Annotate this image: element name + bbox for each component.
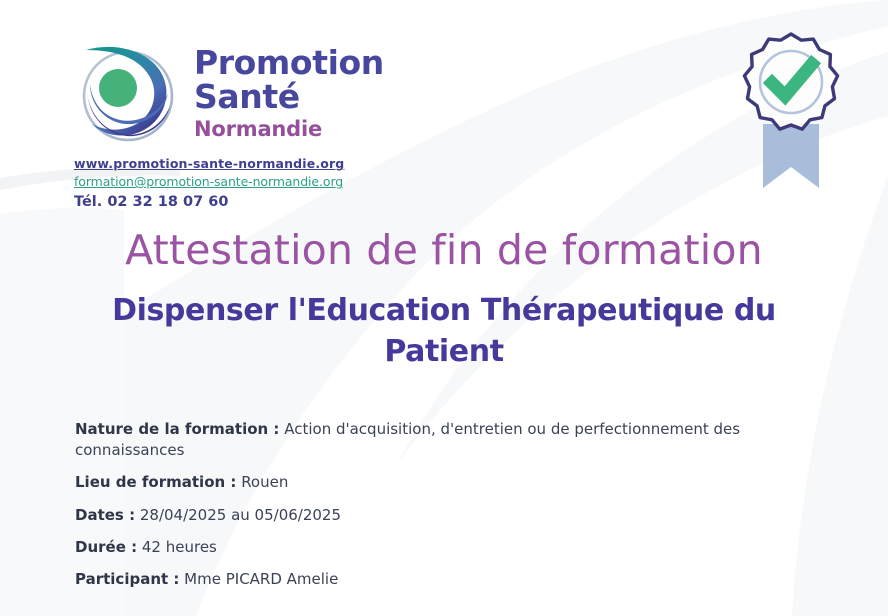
verified-badge-icon bbox=[732, 28, 850, 194]
detail-value: 42 heures bbox=[142, 538, 217, 556]
document-header: Promotion Santé Normandie www.promotion-… bbox=[0, 0, 888, 228]
detail-row-dates: Dates : 28/04/2025 au 05/06/2025 bbox=[75, 505, 748, 526]
logo-wordmark: Promotion Santé Normandie bbox=[194, 36, 384, 142]
details-list: Nature de la formation : Action d'acquis… bbox=[0, 419, 888, 591]
title-block: Attestation de fin de formation Dispense… bbox=[0, 228, 888, 373]
brand-block: Promotion Santé Normandie www.promotion-… bbox=[72, 36, 492, 214]
logo-green-circle bbox=[99, 69, 137, 107]
detail-value: 28/04/2025 au 05/06/2025 bbox=[140, 506, 341, 524]
detail-label: Participant : bbox=[75, 570, 179, 588]
logo-word-normandie: Normandie bbox=[194, 116, 384, 142]
detail-row-lieu: Lieu de formation : Rouen bbox=[75, 472, 748, 493]
ribbon-icon bbox=[763, 124, 819, 188]
contact-block: www.promotion-sante-normandie.org format… bbox=[74, 155, 492, 214]
certificate-page: Promotion Santé Normandie www.promotion-… bbox=[0, 0, 888, 616]
detail-row-participant: Participant : Mme PICARD Amelie bbox=[75, 569, 748, 590]
logo-row: Promotion Santé Normandie bbox=[72, 36, 492, 146]
phone-number: Tél. 02 32 18 07 60 bbox=[74, 192, 492, 214]
detail-value: Rouen bbox=[241, 473, 288, 491]
detail-label: Dates : bbox=[75, 506, 135, 524]
detail-value: Mme PICARD Amelie bbox=[184, 570, 338, 588]
document-subtitle: Dispenser l'Education Thérapeutique du P… bbox=[60, 290, 828, 373]
document-title: Attestation de fin de formation bbox=[60, 228, 828, 274]
detail-row-duree: Durée : 42 heures bbox=[75, 537, 748, 558]
website-link[interactable]: www.promotion-sante-normandie.org bbox=[74, 155, 492, 173]
detail-label: Nature de la formation : bbox=[75, 420, 279, 438]
detail-row-nature: Nature de la formation : Action d'acquis… bbox=[75, 419, 748, 462]
email-link[interactable]: formation@promotion-sante-normandie.org bbox=[74, 173, 492, 191]
promotion-sante-normandie-logo-icon bbox=[72, 38, 180, 146]
logo-word-sante: Santé bbox=[194, 80, 384, 114]
detail-label: Lieu de formation : bbox=[75, 473, 236, 491]
detail-label: Durée : bbox=[75, 538, 137, 556]
logo-word-promotion: Promotion bbox=[194, 46, 384, 80]
